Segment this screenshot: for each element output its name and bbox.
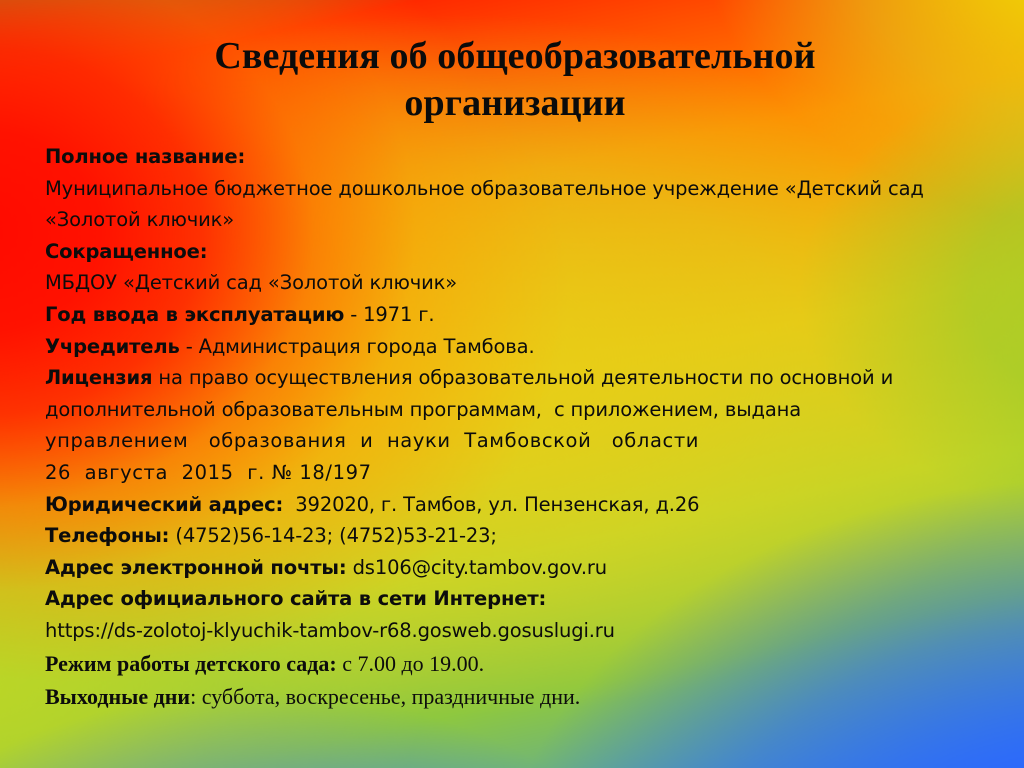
label-website: Адрес официального сайта в сети Интернет…: [45, 587, 546, 610]
value-website-url[interactable]: https://ds-zolotoj-klyuchik-tambov-r68.g…: [45, 619, 615, 642]
value-license-2: дополнительной образовательным программа…: [45, 398, 801, 421]
text-line-full-name-1: Муниципальное бюджетное дошкольное образ…: [45, 173, 1005, 205]
text-line-days-off: Выходные дни: суббота, воскресенье, праз…: [45, 680, 1005, 713]
text-line-phones: Телефоны: (4752)56-14-23; (4752)53-21-23…: [45, 520, 1005, 552]
label-phones: Телефоны:: [45, 524, 169, 547]
text-line-full-name-2: «Золотой ключик»: [45, 204, 1005, 236]
value-full-name-1: Муниципальное бюджетное дошкольное образ…: [45, 177, 924, 200]
label-legal-address: Юридический адрес:: [45, 493, 283, 516]
text-line-license-3: управлением образования и науки Тамбовск…: [45, 425, 1005, 457]
label-year-commissioned: Год ввода в эксплуатацию: [45, 303, 344, 326]
value-working-hours: с 7.00 до 19.00.: [337, 651, 484, 676]
value-year-commissioned: - 1971 г.: [344, 303, 434, 326]
label-founder: Учредитель: [45, 335, 180, 358]
text-line-full-name-label: Полное название:: [45, 141, 1005, 173]
label-working-hours: Режим работы детского сада:: [45, 651, 337, 676]
value-founder: - Администрация города Тамбова.: [180, 335, 535, 358]
text-line-license-1: Лицензия на право осуществления образова…: [45, 362, 1005, 394]
value-license-1: на право осуществления образовательной д…: [152, 366, 893, 389]
value-email: ds106@city.tambov.gov.ru: [347, 556, 607, 579]
value-legal-address: 392020, г. Тамбов, ул. Пензенская, д.26: [283, 493, 699, 516]
value-days-off: : суббота, воскресенье, праздничные дни.: [190, 684, 580, 709]
text-line-short-name-value: МБДОУ «Детский сад «Золотой ключик»: [45, 267, 1005, 299]
label-short-name: Сокращенное:: [45, 240, 207, 263]
text-line-email: Адрес электронной почты: ds106@city.tamb…: [45, 552, 1005, 584]
slide-body: Полное название: Муниципальное бюджетное…: [45, 141, 1005, 713]
text-line-website-label: Адрес официального сайта в сети Интернет…: [45, 583, 1005, 615]
value-full-name-2: «Золотой ключик»: [45, 208, 234, 231]
slide-title-line-2: организации: [120, 80, 910, 127]
text-line-legal-address: Юридический адрес: 392020, г. Тамбов, ул…: [45, 489, 1005, 521]
text-line-working-hours: Режим работы детского сада: с 7.00 до 19…: [45, 647, 1005, 680]
slide-content: Сведения об общеобразовательной организа…: [0, 0, 1024, 768]
text-line-license-4: 26 августа 2015 г. № 18/197: [45, 457, 1005, 489]
value-phones: (4752)56-14-23; (4752)53-21-23;: [169, 524, 496, 547]
label-email: Адрес электронной почты:: [45, 556, 347, 579]
text-line-founder: Учредитель - Администрация города Тамбов…: [45, 331, 1005, 363]
label-license: Лицензия: [45, 366, 152, 389]
text-line-website-url[interactable]: https://ds-zolotoj-klyuchik-tambov-r68.g…: [45, 615, 1005, 647]
text-line-license-2: дополнительной образовательным программа…: [45, 394, 1005, 426]
label-days-off: Выходные дни: [45, 684, 190, 709]
value-license-4: 26 августа 2015 г. № 18/197: [45, 461, 372, 484]
slide-title-line-1: Сведения об общеобразовательной: [120, 33, 910, 80]
presentation-slide: Сведения об общеобразовательной организа…: [0, 0, 1024, 768]
value-short-name: МБДОУ «Детский сад «Золотой ключик»: [45, 271, 457, 294]
slide-title: Сведения об общеобразовательной организа…: [120, 33, 910, 127]
label-full-name: Полное название:: [45, 145, 245, 168]
text-line-year-commissioned: Год ввода в эксплуатацию - 1971 г.: [45, 299, 1005, 331]
text-line-short-name-label: Сокращенное:: [45, 236, 1005, 268]
value-license-3: управлением образования и науки Тамбовск…: [45, 429, 699, 452]
